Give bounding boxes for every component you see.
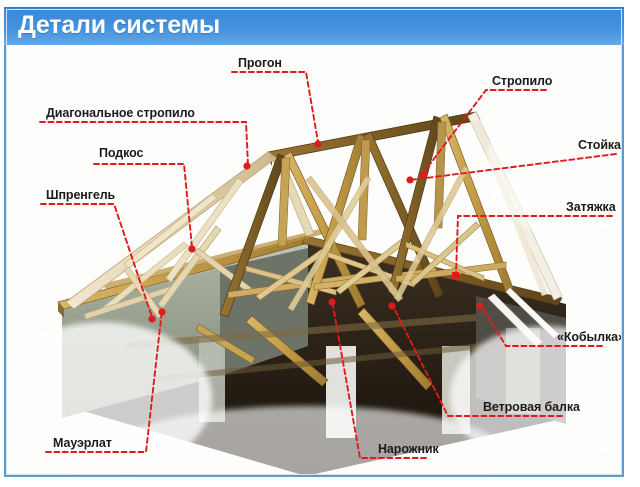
header-banner: Детали системы bbox=[4, 7, 624, 45]
label-podkos: Подкос bbox=[99, 146, 143, 160]
illustration-canvas: Прогон Стропило Диагональное стропило Ст… bbox=[6, 46, 622, 475]
label-shprengel: Шпренгель bbox=[46, 188, 115, 202]
label-narozhnik: Нарожник bbox=[378, 442, 439, 456]
label-mauerlat: Мауэрлат bbox=[53, 436, 112, 450]
dot-zatyazhka bbox=[452, 272, 459, 279]
leader-diagonalnoe bbox=[40, 122, 248, 165]
dot-stoika bbox=[406, 176, 413, 183]
page-title: Детали системы bbox=[18, 11, 220, 40]
leader-podkos bbox=[94, 164, 192, 247]
label-stropilo: Стропило bbox=[492, 74, 552, 88]
label-progon: Прогон bbox=[238, 56, 282, 70]
dot-stropilo bbox=[420, 170, 427, 177]
dot-vetrovaya bbox=[388, 302, 395, 309]
label-vetrovaya: Ветровая балка bbox=[483, 400, 580, 414]
dot-kobylka bbox=[476, 302, 483, 309]
label-kobylka: «Кобылка» bbox=[557, 330, 622, 344]
label-zatyazhka: Затяжка bbox=[566, 200, 616, 214]
label-stoika: Стойка bbox=[578, 138, 621, 152]
diagram-page: Детали системы bbox=[0, 0, 640, 487]
dot-progon bbox=[314, 140, 321, 147]
dot-mauerlat bbox=[158, 308, 165, 315]
dot-podkos bbox=[188, 245, 195, 252]
leader-progon bbox=[232, 72, 318, 142]
dot-diagonalnoe bbox=[243, 162, 250, 169]
dot-shprengel bbox=[148, 315, 155, 322]
label-diagonalnoe: Диагональное стропило bbox=[46, 106, 195, 120]
dot-narozhnik bbox=[328, 298, 335, 305]
